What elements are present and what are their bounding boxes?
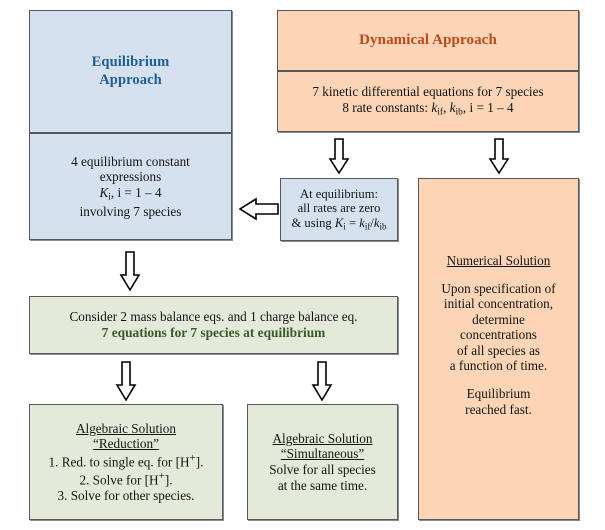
reduction-step-1: 1. Red. to single eq. for [H+]. [49, 452, 204, 470]
equilibrium-constants-box: 4 equilibrium constant expressions Ki, i… [29, 133, 232, 240]
equilibrium-condition-line2: all rates are zero [298, 201, 381, 216]
equilibrium-condition-box: At equilibrium: all rates are zero & usi… [280, 178, 398, 241]
numerical-solution-line5: of all species as [457, 343, 540, 359]
equilibrium-condition-line3: & using Ki = kif/kib [291, 216, 386, 232]
arrow-dynamical-to-equilibrium-condition [328, 139, 350, 175]
balance-equations-box: Consider 2 mass balance eqs. and 1 charg… [29, 296, 398, 354]
reduction-heading-line1: Algebraic Solution [76, 421, 176, 437]
arrow-condition-to-equilibrium-box [238, 198, 278, 220]
reduction-step-2-text-b: ]. [165, 472, 173, 487]
equilibrium-constants-line4: involving 7 species [80, 204, 182, 220]
equilibrium-approach-title-box: Equilibrium Approach [29, 10, 232, 133]
simultaneous-line1: Solve for all species [269, 462, 376, 478]
numerical-solution-line2: initial concentration, [444, 296, 553, 312]
equilibrium-constants-line1: 4 equilibrium constant [71, 154, 190, 170]
equilibrium-approach-title-line2: Approach [99, 72, 162, 89]
dynamical-approach-title: Dynamical Approach [359, 32, 497, 50]
numerical-solution-box: Numerical Solution Upon specification of… [418, 178, 579, 520]
equilibrium-constants-line2: expressions [100, 169, 162, 185]
numerical-solution-line3: determine [472, 312, 525, 328]
arrow-dynamical-to-numerical [488, 139, 510, 175]
numerical-solution-line7: Equilibrium [467, 386, 531, 402]
rate-constant-kib-subscript: ib [456, 108, 463, 118]
arrow-balance-to-reduction [115, 362, 137, 402]
numerical-solution-line4: concentrations [460, 327, 537, 343]
algebraic-solution-simultaneous-box: Algebraic Solution “Simultaneous” Solve … [247, 404, 398, 520]
balance-equations-line1: Consider 2 mass balance eqs. and 1 charg… [70, 309, 358, 325]
reduction-step-2-text-a: 2. Solve for [H [79, 472, 158, 487]
reduction-step-1-text-a: 1. Red. to single eq. for [H [49, 454, 190, 469]
equilibrium-constants-K-symbol: K [99, 185, 108, 200]
equilibrium-constants-line3: Ki, i = 1 – 4 [99, 185, 161, 204]
dynamical-equations-box: 7 kinetic differential equations for 7 s… [277, 71, 579, 132]
simultaneous-heading-line2: “Simultaneous” [281, 446, 365, 462]
simultaneous-line2: at the same time. [278, 478, 367, 494]
reduction-heading-line2: “Reduction” [93, 436, 159, 452]
numerical-solution-line6: a function of time. [450, 358, 547, 374]
algebraic-solution-reduction-box: Algebraic Solution “Reduction” 1. Red. t… [29, 404, 223, 520]
condition-equals: = [346, 216, 359, 230]
rate-constants-index-range: , i = 1 – 4 [463, 100, 514, 115]
condition-kib-subscript: ib [379, 222, 386, 232]
dynamical-approach-title-box: Dynamical Approach [277, 10, 579, 71]
numerical-solution-line8: reached fast. [465, 402, 532, 418]
arrow-balance-to-simultaneous [311, 362, 333, 402]
simultaneous-heading-line1: Algebraic Solution [273, 431, 373, 447]
equilibrium-approach-title-line1: Equilibrium [92, 54, 170, 71]
rate-constants-separator: , [443, 100, 450, 115]
balance-equations-summary: 7 equations for 7 species at equilibrium [102, 325, 326, 341]
equilibrium-constants-index-range: , i = 1 – 4 [111, 185, 162, 200]
equilibrium-condition-line1: At equilibrium: [300, 187, 378, 202]
dynamical-equations-line2: 8 rate constants: kif, kib, i = 1 – 4 [342, 100, 513, 119]
reduction-step-3: 3. Solve for other species. [58, 488, 195, 504]
flowchart-canvas: Equilibrium Approach 4 equilibrium const… [0, 0, 605, 530]
rate-constants-label: 8 rate constants: [342, 100, 431, 115]
arrow-equilibrium-to-balance [119, 252, 141, 292]
reduction-step-1-text-b: ]. [196, 454, 204, 469]
numerical-solution-line1: Upon specification of [441, 281, 555, 297]
dynamical-equations-line1: 7 kinetic differential equations for 7 s… [312, 84, 543, 100]
reduction-step-2: 2. Solve for [H+]. [79, 470, 172, 488]
numerical-solution-heading: Numerical Solution [447, 253, 551, 269]
using-label: & using [291, 216, 334, 230]
